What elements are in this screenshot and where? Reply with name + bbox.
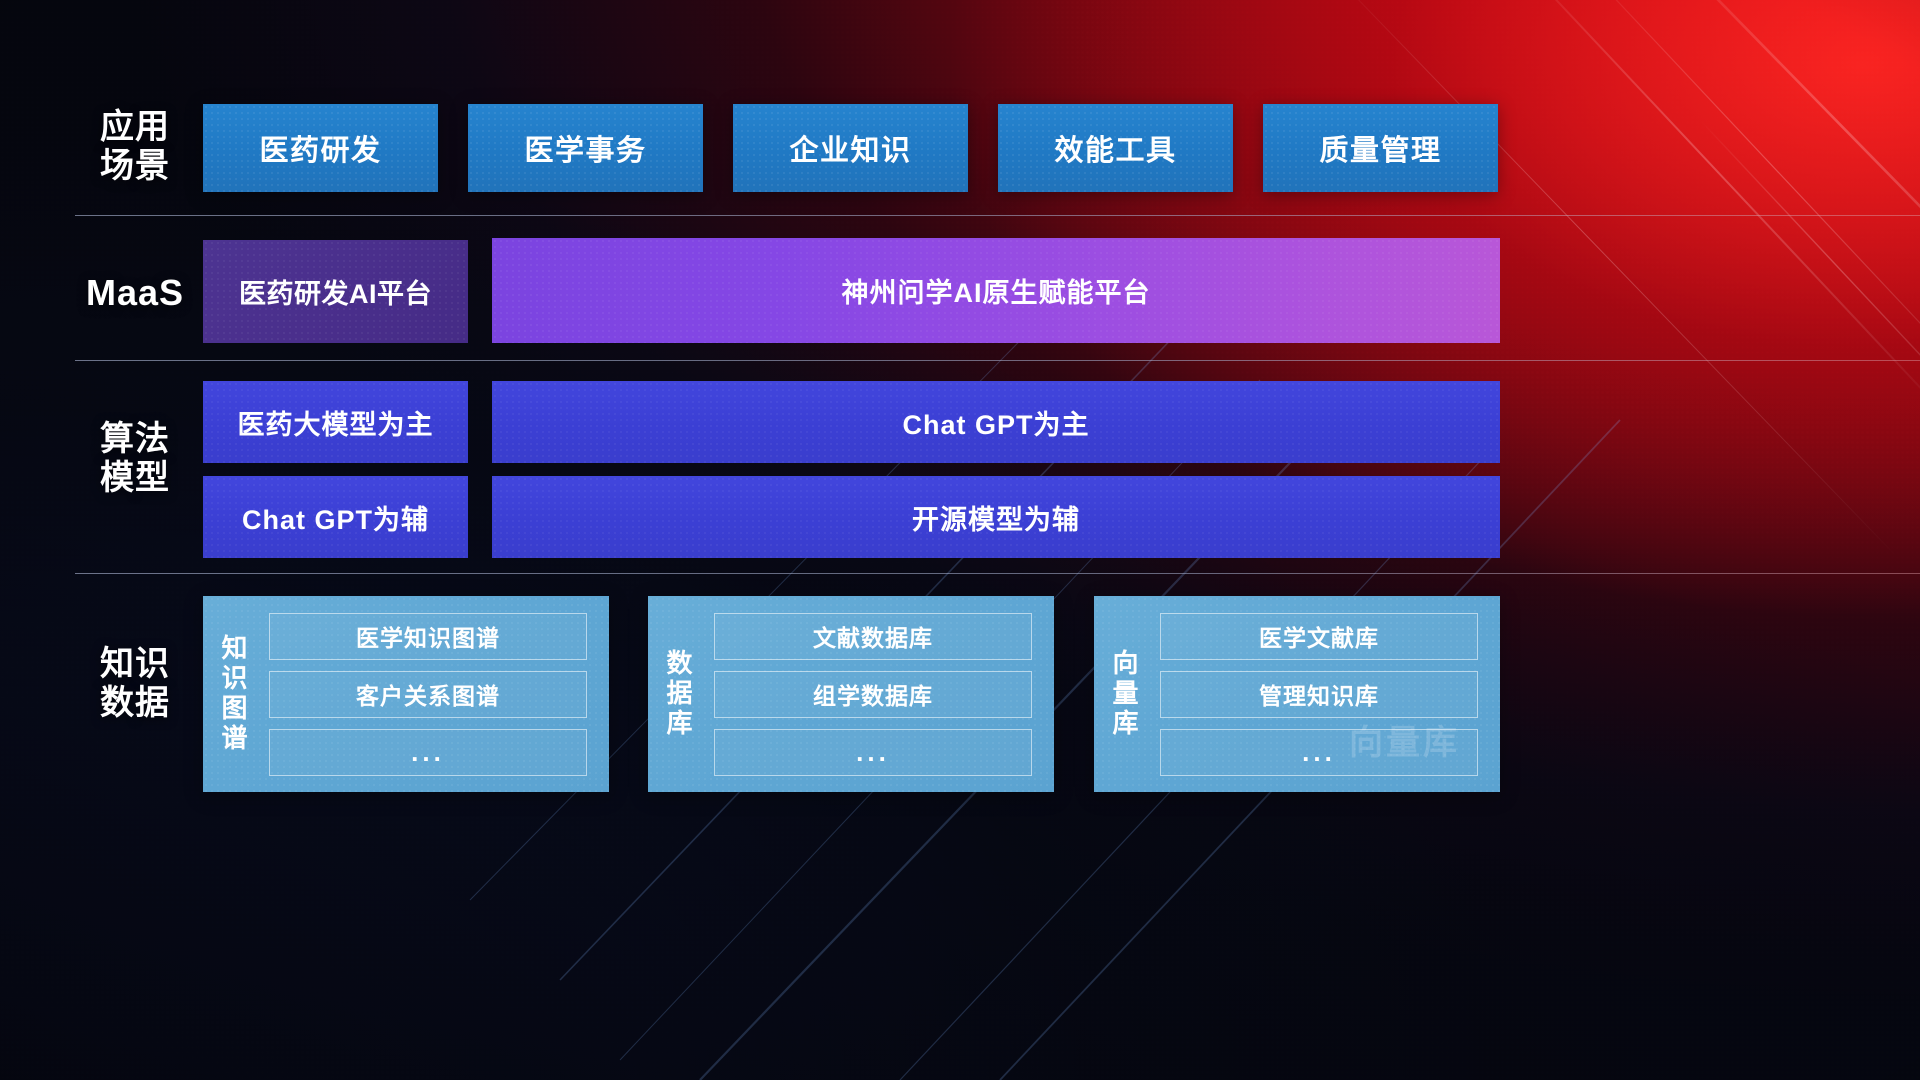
knowledge-panel-items: 医学文献库 管理知识库 ... (1154, 613, 1500, 776)
scenario-box-4[interactable]: 质量管理 (1263, 104, 1498, 192)
knowledge-item[interactable]: 组学数据库 (714, 671, 1032, 718)
knowledge-item[interactable]: 管理知识库 (1160, 671, 1478, 718)
algorithm-label: Chat GPT为主 (902, 403, 1089, 442)
scenario-box-2[interactable]: 企业知识 (733, 104, 968, 192)
knowledge-panel-side-label: 向量库 (1094, 649, 1154, 739)
knowledge-panel-items: 文献数据库 组学数据库 ... (708, 613, 1054, 776)
knowledge-item-more[interactable]: ... (269, 729, 587, 776)
scenario-box-0[interactable]: 医药研发 (203, 104, 438, 192)
tier-label-maas: MaaS (75, 272, 195, 313)
algorithm-box-row1-left[interactable]: Chat GPT为辅 (203, 476, 468, 558)
algorithm-box-row0-right[interactable]: Chat GPT为主 (492, 381, 1500, 463)
tier-label-algorithm-model: 算法 模型 (75, 420, 195, 498)
maas-platform-box-right[interactable]: 神州问学AI原生赋能平台 (492, 238, 1500, 343)
knowledge-item[interactable]: 客户关系图谱 (269, 671, 587, 718)
scenario-label: 医学事务 (524, 127, 646, 169)
tier-label-line: 应用 (75, 108, 195, 147)
maas-left-label: 医药研发AI平台 (239, 272, 432, 311)
divider-after-algorithm (75, 573, 1920, 574)
algorithm-box-row1-right[interactable]: 开源模型为辅 (492, 476, 1500, 558)
knowledge-item[interactable]: 文献数据库 (714, 613, 1032, 660)
knowledge-panel-database[interactable]: 数据库 文献数据库 组学数据库 ... (648, 596, 1054, 792)
knowledge-item[interactable]: 医学知识图谱 (269, 613, 587, 660)
knowledge-panel-side-label: 数据库 (648, 649, 708, 739)
maas-right-label: 神州问学AI原生赋能平台 (842, 271, 1151, 310)
algorithm-label: 开源模型为辅 (912, 498, 1080, 537)
scenario-label: 质量管理 (1319, 127, 1441, 169)
algorithm-label: 医药大模型为主 (238, 403, 434, 442)
scenario-label: 医药研发 (259, 127, 381, 169)
divider-after-maas (75, 360, 1920, 361)
algorithm-box-row0-left[interactable]: 医药大模型为主 (203, 381, 468, 463)
tier-label-line: 知识 (75, 645, 195, 684)
architecture-diagram: 应用 场景 医药研发 医学事务 企业知识 效能工具 质量管理 MaaS 医药研发… (0, 0, 1920, 1080)
scenario-box-3[interactable]: 效能工具 (998, 104, 1233, 192)
scenario-label: 效能工具 (1054, 127, 1176, 169)
knowledge-panel-side-label: 知识图谱 (203, 634, 263, 754)
knowledge-panel-knowledge-graph[interactable]: 知识图谱 医学知识图谱 客户关系图谱 ... (203, 596, 609, 792)
knowledge-item-more[interactable]: ... (714, 729, 1032, 776)
tier-label-line: 数据 (75, 684, 195, 723)
scenario-label: 企业知识 (789, 127, 911, 169)
knowledge-panel-items: 医学知识图谱 客户关系图谱 ... (263, 613, 609, 776)
tier-label-line: 场景 (75, 147, 195, 186)
maas-platform-box-left[interactable]: 医药研发AI平台 (203, 240, 468, 343)
knowledge-item-more[interactable]: ... (1160, 729, 1478, 776)
knowledge-panel-vector-store[interactable]: 向量库 医学文献库 管理知识库 ... 向量库 (1094, 596, 1500, 792)
tier-label-line: 算法 (75, 420, 195, 459)
divider-after-scenarios (75, 215, 1920, 216)
tier-label-knowledge-data: 知识 数据 (75, 645, 195, 723)
scenario-box-1[interactable]: 医学事务 (468, 104, 703, 192)
tier-label-line: MaaS (75, 272, 195, 313)
tier-label-line: 模型 (75, 459, 195, 498)
knowledge-item[interactable]: 医学文献库 (1160, 613, 1478, 660)
algorithm-label: Chat GPT为辅 (242, 498, 429, 537)
tier-label-application-scenarios: 应用 场景 (75, 108, 195, 186)
